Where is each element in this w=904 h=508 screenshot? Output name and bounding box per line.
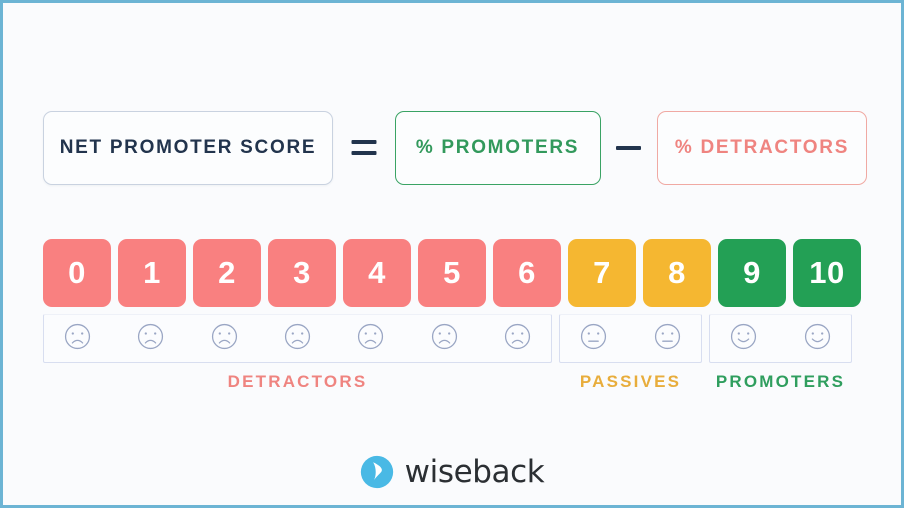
score-box-3[interactable]: 3 (268, 239, 336, 307)
face-cell-9 (710, 322, 777, 351)
score-box-value: 7 (593, 255, 611, 291)
face-group-detractors (43, 314, 552, 363)
face-cell-4 (338, 322, 404, 351)
percent-detractors-box: % DETRACTORS (657, 111, 867, 185)
sad-face-icon (283, 322, 312, 351)
category-label-row: DETRACTORS PASSIVES PROMOTERS (43, 372, 867, 392)
equals-operator (333, 137, 395, 159)
percent-detractors-label: % DETRACTORS (675, 137, 849, 159)
score-box-value: 8 (668, 255, 686, 291)
score-box-6[interactable]: 6 (493, 239, 561, 307)
brand-logo: wiseback (3, 455, 901, 489)
face-cell-1 (117, 322, 183, 351)
sad-face-icon (503, 322, 532, 351)
face-cell-2 (191, 322, 257, 351)
category-label-passives: PASSIVES (559, 372, 702, 392)
score-box-value: 3 (293, 255, 311, 291)
category-label-detractors: DETRACTORS (43, 372, 552, 392)
score-box-value: 2 (218, 255, 236, 291)
score-box-10[interactable]: 10 (793, 239, 861, 307)
wiseback-logo-icon (360, 455, 394, 489)
score-box-1[interactable]: 1 (118, 239, 186, 307)
minus-icon (616, 146, 641, 150)
happy-face-icon (803, 322, 832, 351)
face-cell-7 (560, 322, 627, 351)
nps-scale: 012345678910 DETRACTORS PASSIVES PROMOTE… (43, 239, 867, 392)
score-box-value: 5 (443, 255, 461, 291)
neutral-face-icon (653, 322, 682, 351)
happy-face-icon (729, 322, 758, 351)
net-promoter-score-box: NET PROMOTER SCORE (43, 111, 333, 185)
score-box-row: 012345678910 (43, 239, 867, 307)
wiseback-wordmark: wiseback (405, 457, 545, 488)
score-box-5[interactable]: 5 (418, 239, 486, 307)
face-cell-6 (485, 322, 551, 351)
net-promoter-score-label: NET PROMOTER SCORE (60, 137, 317, 159)
sad-face-icon (356, 322, 385, 351)
score-box-value: 1 (143, 255, 161, 291)
score-box-4[interactable]: 4 (343, 239, 411, 307)
score-box-7[interactable]: 7 (568, 239, 636, 307)
nps-infographic: NET PROMOTER SCORE % PROMOTERS % DETRACT… (0, 0, 904, 508)
score-box-9[interactable]: 9 (718, 239, 786, 307)
score-box-value: 0 (68, 255, 86, 291)
face-group-promoters (709, 314, 852, 363)
percent-promoters-label: % PROMOTERS (416, 137, 579, 159)
sad-face-icon (430, 322, 459, 351)
score-box-value: 6 (518, 255, 536, 291)
equals-icon (349, 137, 379, 159)
face-cell-3 (264, 322, 330, 351)
score-box-value: 4 (368, 255, 386, 291)
face-cell-5 (411, 322, 477, 351)
sad-face-icon (210, 322, 239, 351)
nps-formula: NET PROMOTER SCORE % PROMOTERS % DETRACT… (43, 111, 867, 185)
score-box-8[interactable]: 8 (643, 239, 711, 307)
score-box-value: 10 (809, 255, 844, 291)
sad-face-icon (136, 322, 165, 351)
score-box-2[interactable]: 2 (193, 239, 261, 307)
sad-face-icon (63, 322, 92, 351)
percent-promoters-box: % PROMOTERS (395, 111, 601, 185)
face-icon-row (43, 314, 867, 363)
face-cell-10 (784, 322, 851, 351)
score-box-value: 9 (743, 255, 761, 291)
category-label-promoters: PROMOTERS (709, 372, 852, 392)
neutral-face-icon (579, 322, 608, 351)
face-group-passives (559, 314, 702, 363)
minus-operator (601, 146, 658, 150)
face-cell-8 (634, 322, 701, 351)
score-box-0[interactable]: 0 (43, 239, 111, 307)
face-cell-0 (44, 322, 110, 351)
